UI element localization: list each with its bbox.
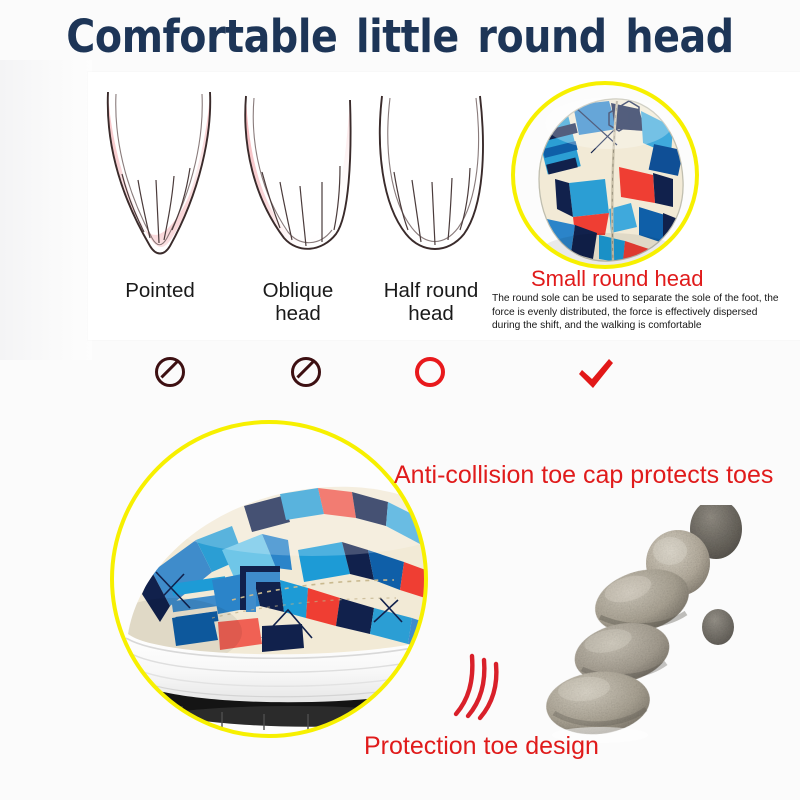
label-pointed: Pointed xyxy=(92,280,228,303)
label-oblique-head: Oblique head xyxy=(230,280,366,326)
impact-lines-icon xyxy=(448,644,506,727)
small-round-head-inset xyxy=(513,83,697,267)
toe-diagram-pointed xyxy=(100,88,220,263)
page-title: Comfortable little round head xyxy=(48,10,752,63)
infographic-page: Comfortable little round head xyxy=(0,0,800,800)
no-entry-icon xyxy=(291,357,321,387)
circle-o-icon xyxy=(415,357,445,387)
product-toe-inset xyxy=(112,422,426,736)
label-pointed-line1: Pointed xyxy=(92,280,228,303)
no-entry-icon xyxy=(155,357,185,387)
label-half-round-line2: head xyxy=(360,303,502,326)
verdict-half-round xyxy=(408,350,452,394)
label-half-round-head: Half round head xyxy=(360,280,502,326)
small-round-head-description: The round sole can be used to separate t… xyxy=(492,292,787,333)
verdict-pointed xyxy=(148,350,192,394)
caption-anti-collision: Anti-collision toe cap protects toes xyxy=(394,461,773,490)
label-oblique-line2: head xyxy=(230,303,366,326)
caption-protection-toe: Protection toe design xyxy=(364,732,599,761)
toe-diagram-oblique xyxy=(236,90,358,262)
check-icon xyxy=(576,357,616,391)
stone-stack-image xyxy=(530,505,780,755)
verdict-small-round xyxy=(574,352,618,396)
left-vignette xyxy=(0,60,92,360)
label-small-round-head: Small round head xyxy=(531,266,703,292)
verdict-oblique xyxy=(284,350,328,394)
toe-diagram-half-round xyxy=(372,92,490,260)
label-half-round-line1: Half round xyxy=(360,280,502,303)
label-oblique-line1: Oblique xyxy=(230,280,366,303)
